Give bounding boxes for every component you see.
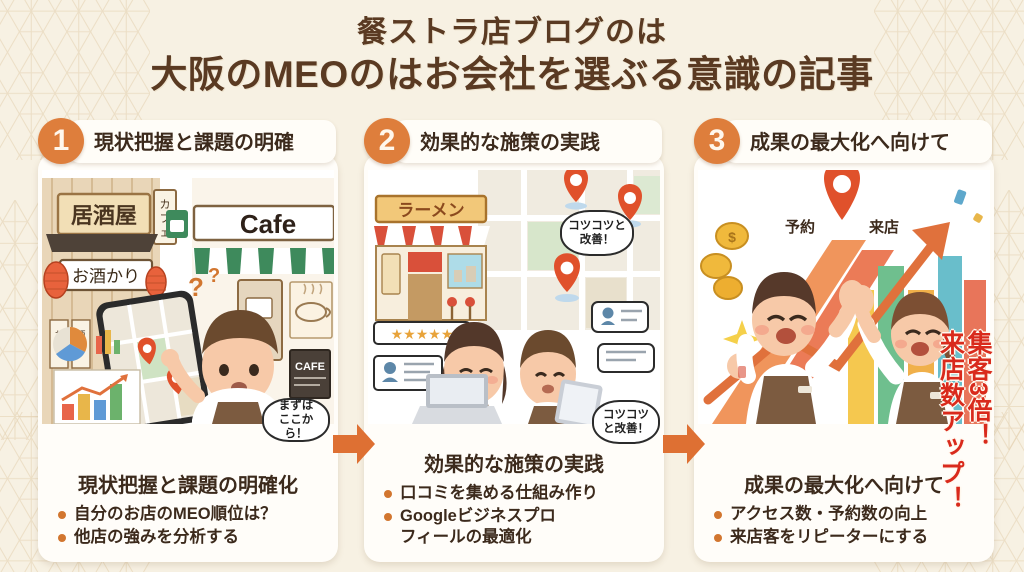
list-item: 来店客をリピーターにする <box>712 527 984 548</box>
step-1-bubble-line-2: ここから！ <box>279 414 314 440</box>
steps-container: 1 現状把握と課題の明確 居酒屋 <box>0 118 1024 568</box>
step-3-body: $ 予約 来店 <box>694 154 994 562</box>
step-card-2[interactable]: 2 効果的な施策の実践 <box>364 118 664 562</box>
step-1-body: 居酒屋 カ フ ェ お酒かり <box>38 154 338 562</box>
step-1-header: 1 現状把握と課題の明確 <box>38 118 338 166</box>
svg-text:CAFE: CAFE <box>295 361 325 373</box>
step-2-bullet-list: 口コミを集める仕組み作り Googleビジネスプロフィールの最適化 <box>374 483 654 548</box>
vertical-text-shukyaku: 集客3倍！ <box>965 330 991 512</box>
svg-text:?: ? <box>208 265 220 287</box>
step-2-header: 2 効果的な施策の実践 <box>364 118 664 166</box>
step-3-header: 3 成果の最大化へ向けて <box>694 118 994 166</box>
step-2-illustration: ラーメン <box>368 170 660 424</box>
list-item: 他店の強みを分析する <box>56 527 328 548</box>
page-title: 餐ストラ店ブログのは 大阪のMEOのはお会社を選ぶる意識の記事 <box>0 14 1024 97</box>
step-2-footer: 効果的な施策の実践 口コミを集める仕組み作り Googleビジネスプロフィールの… <box>364 442 664 562</box>
list-item: Googleビジネスプロフィールの最適化 <box>382 506 654 548</box>
list-item-line-1: Googleビジネスプロ <box>400 507 556 525</box>
list-item-line-2: フィールの最適化 <box>400 528 532 546</box>
arrow-right-icon-1 <box>331 421 377 467</box>
step-1-illustration: 居酒屋 カ フ ェ お酒かり <box>42 170 334 424</box>
step-2-bubble-top-line-2: 改善！ <box>580 234 615 246</box>
svg-text:カ: カ <box>160 198 171 211</box>
step-1-bubble-line-1: まずは <box>279 400 314 412</box>
svg-text:ラーメン: ラーメン <box>397 201 464 220</box>
svg-text:?: ? <box>188 272 204 302</box>
step-2-bubble-top-line-1: コツコツと <box>568 220 626 232</box>
step-1-scene: 居酒屋 カ フ ェ お酒かり <box>42 170 334 424</box>
label-raiten: 来店 <box>868 218 899 236</box>
title-line-1: 餐ストラ店ブログのは <box>0 14 1024 52</box>
step-1-foot-title: 現状把握と課題の明確化 <box>48 469 328 498</box>
svg-text:★★★★★: ★★★★★ <box>391 326 454 342</box>
svg-text:お酒かり: お酒かり <box>72 267 140 286</box>
step-2-speech-bubble-bottom: コツコツ と改善！ <box>592 400 660 444</box>
step-1-bullet-list: 自分のお店のMEO順位は？ 他店の強みを分析する <box>48 504 328 548</box>
step-2-body: ラーメン <box>364 154 664 562</box>
step-2-foot-title: 効果的な施策の実践 <box>374 448 654 477</box>
step-1-header-label: 現状把握と課題の明確 <box>94 126 294 155</box>
infographic-page: 餐ストラ店ブログのは 大阪のMEOのはお会社を選ぶる意識の記事 1 現状把握と課… <box>0 0 1024 572</box>
svg-text:居酒屋: 居酒屋 <box>71 203 137 228</box>
list-item: 自分のお店のMEO順位は？ <box>56 504 328 525</box>
step-2-header-label: 効果的な施策の実践 <box>420 126 600 155</box>
step-1-speech-bubble: まずは ここから！ <box>262 398 330 442</box>
step-3-vertical-callouts: 集客3倍！ 来店数アップ！ <box>937 330 990 512</box>
svg-text:Cafe: Cafe <box>240 209 296 239</box>
step-2-number-badge: 2 <box>364 118 410 164</box>
label-yoyaku: 予約 <box>785 218 815 236</box>
title-line-2: 大阪のMEOのはお会社を選ぶる意識の記事 <box>0 52 1024 97</box>
svg-text:$: $ <box>728 229 736 245</box>
step-1-number-badge: 1 <box>38 118 84 164</box>
step-2-speech-bubble-top: コツコツと 改善！ <box>560 210 634 256</box>
list-item: 口コミを集める仕組み作り <box>382 483 654 504</box>
step-card-3[interactable]: 3 成果の最大化へ向けて <box>694 118 994 562</box>
step-1-footer: 現状把握と課題の明確化 自分のお店のMEO順位は？ 他店の強みを分析する <box>38 463 338 562</box>
step-2-bubble-bottom-line-2: と改善！ <box>603 423 649 435</box>
step-2-bubble-bottom-line-1: コツコツ <box>603 409 649 421</box>
step-card-1[interactable]: 1 現状把握と課題の明確 居酒屋 <box>38 118 338 562</box>
step-2-scene: ラーメン <box>368 170 660 424</box>
vertical-text-raitensuu: 来店数アップ！ <box>937 330 963 512</box>
step-3-header-label: 成果の最大化へ向けて <box>750 126 950 155</box>
arrow-right-icon-2 <box>661 421 707 467</box>
step-3-number-badge: 3 <box>694 118 740 164</box>
